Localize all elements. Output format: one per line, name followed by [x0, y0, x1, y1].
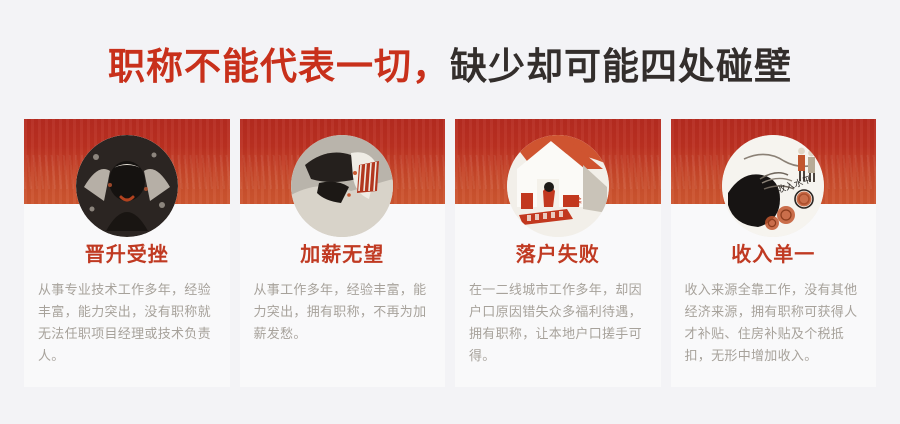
empty-wallet-photo	[291, 135, 393, 237]
card-body: 在一二线城市工作多年，却因户口原因错失众多福利待遇，拥有职称，让本地户口搓手可得…	[469, 279, 647, 367]
black-purse-with-coins-photo: 收入水平	[722, 135, 824, 237]
page-title: 职称不能代表一切，缺少却可能四处碰壁	[0, 44, 900, 90]
promo-banner: 职称不能代表一切，缺少却可能四处碰壁	[0, 0, 900, 424]
svg-text:养: 养	[573, 196, 582, 208]
card-residency-failure[interactable]: 养 落户失败 在一二线城市工作多年，却因户口原因错失众多福利待遇，拥有职称，让本…	[455, 119, 661, 387]
card-row: 晋升受挫 从事专业技术工作多年，经验丰富，能力突出，没有职称就无法任职项目经理或…	[24, 119, 876, 387]
card-single-income[interactable]: 收入水平 收入单一 收入来源全靠工作，没有其他经济来源，拥有职称可获得人才补贴、…	[671, 119, 877, 387]
card-title: 收入单一	[671, 242, 877, 268]
card-promotion-setback[interactable]: 晋升受挫 从事专业技术工作多年，经验丰富，能力突出，没有职称就无法任职项目经理或…	[24, 119, 230, 387]
card-body: 收入来源全靠工作，没有其他经济来源，拥有职称可获得人才补贴、住房补贴及个税抵扣，…	[685, 279, 863, 367]
card-title: 加薪无望	[240, 242, 446, 268]
house-with-new-year-decoration-photo: 养	[507, 135, 609, 237]
card-body: 从事专业技术工作多年，经验丰富，能力突出，没有职称就无法任职项目经理或技术负责人…	[38, 279, 216, 367]
card-title: 晋升受挫	[24, 242, 230, 268]
card-body: 从事工作多年，经验丰富，能力突出，拥有职称，不再为加薪发愁。	[254, 279, 432, 345]
headline-comma: ，	[412, 46, 450, 87]
card-no-raise-hope[interactable]: 加薪无望 从事工作多年，经验丰富，能力突出，拥有职称，不再为加薪发愁。	[240, 119, 446, 387]
headline-dark-text: 缺少却可能四处碰壁	[450, 46, 792, 87]
person-head-in-hands-photo	[76, 135, 178, 237]
headline-red-text: 职称不能代表一切	[108, 46, 412, 87]
card-title: 落户失败	[455, 242, 661, 268]
